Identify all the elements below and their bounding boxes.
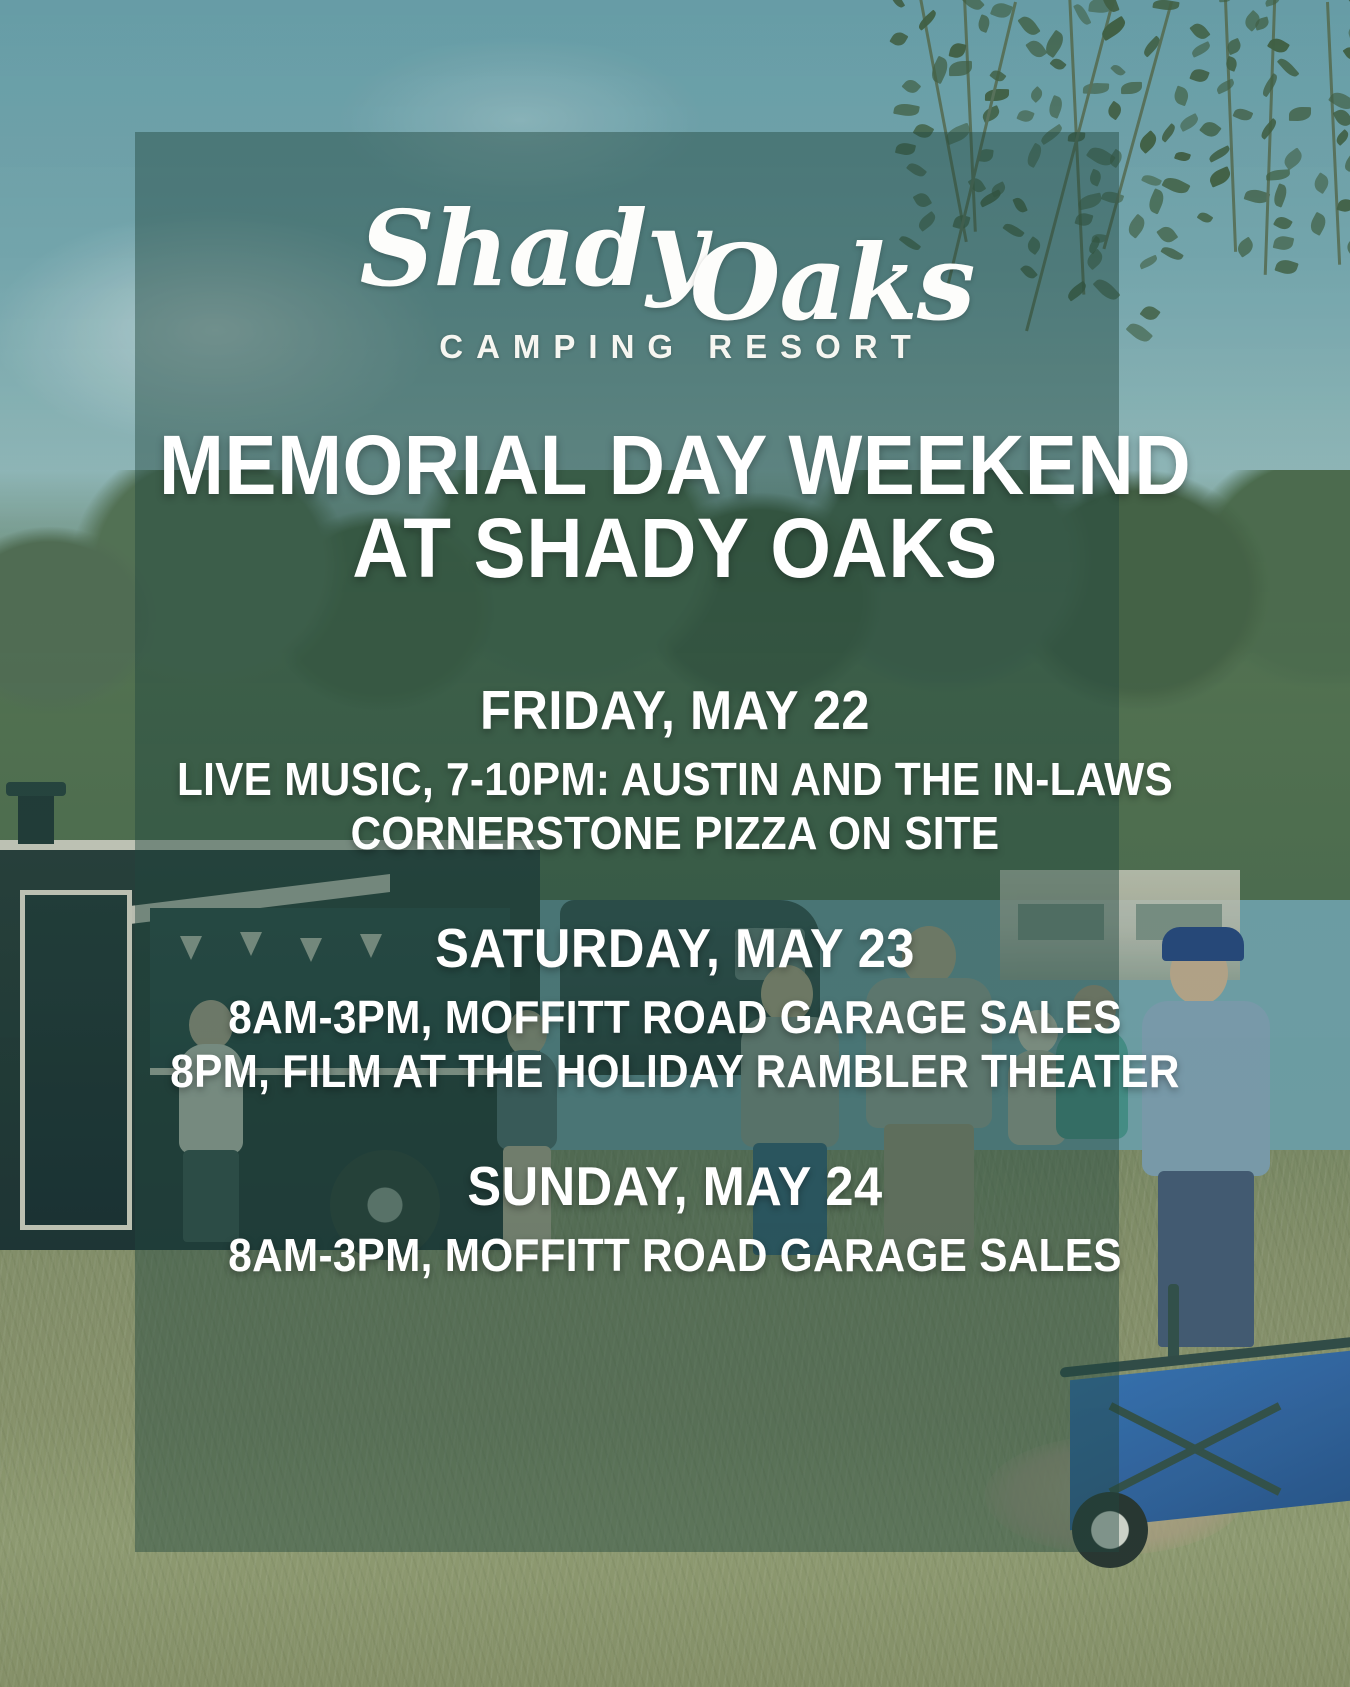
headline-line-2: AT SHADY OAKS <box>47 507 1303 590</box>
schedule-day-lines: 8AM-3PM, MOFFITT ROAD GARAGE SALES8PM, F… <box>0 990 1350 1099</box>
page-title: MEMORIAL DAY WEEKEND AT SHADY OAKS <box>47 424 1303 590</box>
schedule-day-lines: 8AM-3PM, MOFFITT ROAD GARAGE SALES <box>0 1228 1350 1282</box>
schedule-day-block: SUNDAY, MAY 248AM-3PM, MOFFITT ROAD GARA… <box>0 1156 1350 1282</box>
schedule-event-line: 8PM, FILM AT THE HOLIDAY RAMBLER THEATER <box>54 1044 1296 1098</box>
logo-subtitle: CAMPING RESORT <box>0 328 1350 366</box>
poster-content: ShadyOaks CAMPING RESORT MEMORIAL DAY WE… <box>0 0 1350 1687</box>
logo-word-shady: Shady <box>360 187 706 310</box>
logo-word-oaks: Oaks <box>690 221 975 344</box>
schedule-day-block: SATURDAY, MAY 238AM-3PM, MOFFITT ROAD GA… <box>0 918 1350 1098</box>
schedule-event-line: CORNERSTONE PIZZA ON SITE <box>54 806 1296 860</box>
event-schedule: FRIDAY, MAY 22LIVE MUSIC, 7-10PM: AUSTIN… <box>0 680 1350 1340</box>
schedule-event-line: 8AM-3PM, MOFFITT ROAD GARAGE SALES <box>54 1228 1296 1282</box>
schedule-event-line: 8AM-3PM, MOFFITT ROAD GARAGE SALES <box>54 990 1296 1044</box>
schedule-day-lines: LIVE MUSIC, 7-10PM: AUSTIN AND THE IN-LA… <box>0 752 1350 861</box>
schedule-day-title: SATURDAY, MAY 23 <box>54 918 1296 980</box>
brand-logo: ShadyOaks CAMPING RESORT <box>0 196 1350 366</box>
schedule-event-line: LIVE MUSIC, 7-10PM: AUSTIN AND THE IN-LA… <box>54 752 1296 806</box>
logo-wordmark: ShadyOaks <box>0 196 1350 302</box>
event-flyer: ShadyOaks CAMPING RESORT MEMORIAL DAY WE… <box>0 0 1350 1687</box>
schedule-day-block: FRIDAY, MAY 22LIVE MUSIC, 7-10PM: AUSTIN… <box>0 680 1350 860</box>
headline-line-1: MEMORIAL DAY WEEKEND <box>47 424 1303 507</box>
schedule-day-title: SUNDAY, MAY 24 <box>54 1156 1296 1218</box>
schedule-day-title: FRIDAY, MAY 22 <box>54 680 1296 742</box>
